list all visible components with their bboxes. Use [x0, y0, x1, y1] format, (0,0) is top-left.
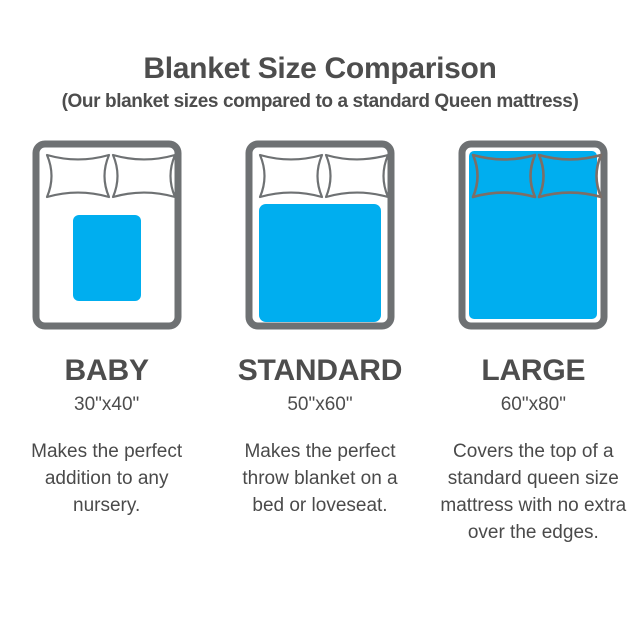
page-title: Blanket Size Comparison	[0, 0, 640, 85]
size-name-baby: BABY	[65, 338, 149, 386]
pillow-left-icon	[260, 155, 322, 197]
blanket-size-comparison-infographic: Blanket Size Comparison (Our blanket siz…	[0, 0, 640, 640]
pillow-right-icon	[113, 155, 175, 197]
standard-bed-diagram	[245, 140, 395, 338]
baby-bed-diagram	[32, 140, 182, 338]
header: Blanket Size Comparison (Our blanket siz…	[0, 0, 640, 112]
size-name-standard: STANDARD	[238, 338, 403, 386]
size-columns: BABY 30"x40" Makes the perfect addition …	[0, 140, 640, 547]
page-subtitle: (Our blanket sizes compared to a standar…	[0, 85, 640, 113]
blanket-shape	[469, 151, 597, 319]
size-name-large: LARGE	[481, 338, 585, 386]
size-dimensions-standard: 50"x60"	[287, 386, 352, 414]
size-dimensions-large: 60"x80"	[501, 386, 566, 414]
size-column-large: LARGE 60"x80" Covers the top of a standa…	[427, 140, 640, 547]
pillow-left-icon	[47, 155, 109, 197]
size-column-baby: BABY 30"x40" Makes the perfect addition …	[0, 140, 213, 547]
size-description-standard: Makes the perfect throw blanket on a bed…	[225, 414, 415, 520]
size-description-baby: Makes the perfect addition to any nurser…	[12, 414, 202, 520]
size-description-large: Covers the top of a standard queen size …	[438, 414, 628, 547]
size-column-standard: STANDARD 50"x60" Makes the perfect throw…	[213, 140, 426, 547]
blanket-shape	[259, 204, 381, 322]
pillow-right-icon	[326, 155, 388, 197]
size-dimensions-baby: 30"x40"	[74, 386, 139, 414]
large-bed-diagram	[458, 140, 608, 338]
blanket-shape	[73, 215, 141, 301]
